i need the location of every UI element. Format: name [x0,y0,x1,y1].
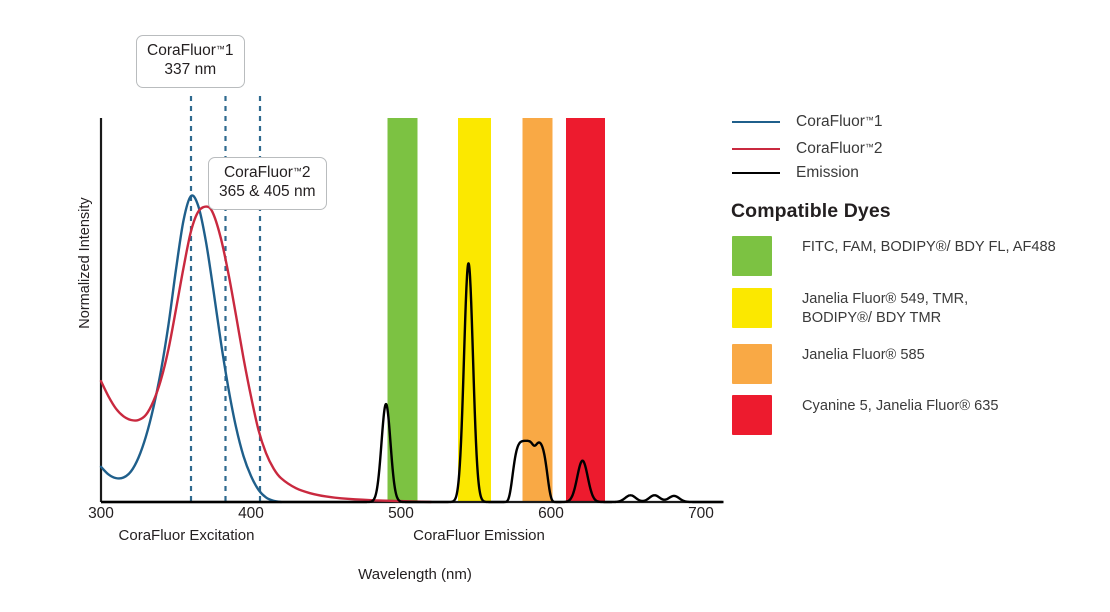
dye-label-fitc: FITC, FAM, BODIPY®/ BDY FL, AF488 [802,236,1056,257]
x-tick-300: 300 [71,505,131,523]
x-axis-title: Wavelength (nm) [290,566,540,583]
legend-line-swatch-emission [732,172,780,174]
filter-band-1 [458,118,491,502]
legend-label-emission: Emission [796,164,859,182]
filter-bands-group [388,118,606,502]
compatible-dyes-title: Compatible Dyes [731,200,891,223]
plot-area: Normalized Intensity 300 400 500 600 700… [0,0,730,612]
y-axis-title: Normalized Intensity [77,173,93,353]
callout-corafluor2-line1: CoraFluor™2 [219,164,316,183]
trademark-icon: ™ [216,44,225,54]
dye-item-cyanine5: Cyanine 5, Janelia Fluor® 635 [732,395,999,435]
dye-item-janelia585: Janelia Fluor® 585 [732,344,925,384]
legend-item-corafluor2: CoraFluor™2 [732,140,883,158]
legend-item-corafluor1: CoraFluor™1 [732,113,883,131]
dye-color-swatch-yellow [732,288,772,328]
emission-region-label: CoraFluor Emission [379,527,579,544]
x-tick-400: 400 [221,505,281,523]
x-tick-700: 700 [671,505,731,523]
dye-color-swatch-green [732,236,772,276]
trademark-icon: ™ [865,115,874,125]
trademark-icon: ™ [865,142,874,152]
dye-item-fitc: FITC, FAM, BODIPY®/ BDY FL, AF488 [732,236,1056,276]
legend-panel: CoraFluor™1 CoraFluor™2 Emission Compati… [730,0,1110,612]
x-tick-600: 600 [521,505,581,523]
filter-band-3 [566,118,605,502]
legend-item-emission: Emission [732,164,859,182]
legend-label-corafluor2: CoraFluor™2 [796,140,883,158]
dye-color-swatch-red [732,395,772,435]
callout-corafluor1-line1: CoraFluor™1 [147,42,234,61]
callout-corafluor1-line2: 337 nm [147,61,234,80]
legend-label-corafluor1: CoraFluor™1 [796,113,883,131]
filter-band-0 [388,118,418,502]
excitation-region-label: CoraFluor Excitation [87,527,287,544]
callout-corafluor2-line2: 365 & 405 nm [219,183,316,202]
dye-label-janelia585: Janelia Fluor® 585 [802,344,925,365]
x-tick-500: 500 [371,505,431,523]
dye-item-janelia549: Janelia Fluor® 549, TMR,BODIPY®/ BDY TMR [732,288,968,329]
callout-corafluor2: CoraFluor™2 365 & 405 nm [208,157,327,210]
callout-corafluor1: CoraFluor™1 337 nm [136,35,245,88]
dye-label-janelia549: Janelia Fluor® 549, TMR,BODIPY®/ BDY TMR [802,288,968,329]
chart-root: Normalized Intensity 300 400 500 600 700… [0,0,1110,612]
dye-label-cyanine5: Cyanine 5, Janelia Fluor® 635 [802,395,999,416]
legend-line-swatch-corafluor2 [732,148,780,150]
legend-line-swatch-corafluor1 [732,121,780,123]
trademark-icon: ™ [293,166,302,176]
dye-color-swatch-orange [732,344,772,384]
